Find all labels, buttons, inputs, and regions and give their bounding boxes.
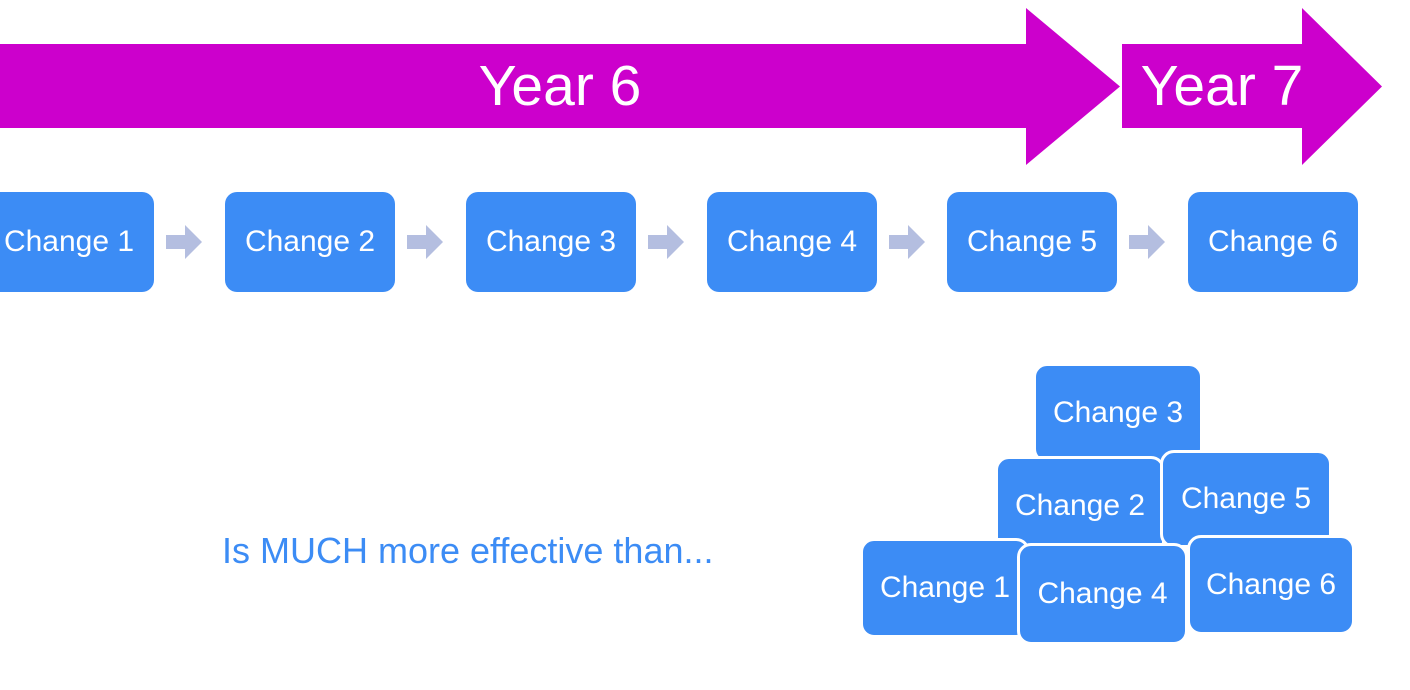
- year7-label: Year 7: [1122, 58, 1322, 115]
- cluster-box-change-1[interactable]: Change 1: [860, 538, 1030, 638]
- connector-arrow-icon-5: [1129, 225, 1165, 259]
- sequential-box-change-3[interactable]: Change 3: [466, 192, 636, 292]
- cluster-box-change-4[interactable]: Change 4: [1017, 543, 1188, 645]
- sequential-box-change-6[interactable]: Change 6: [1188, 192, 1358, 292]
- slide-canvas: Year 6 Year 7 Change 1 Change 2 Change 3…: [0, 0, 1410, 690]
- sequential-box-change-5[interactable]: Change 5: [947, 192, 1117, 292]
- cluster-box-change-6[interactable]: Change 6: [1187, 535, 1355, 635]
- sequential-box-change-4[interactable]: Change 4: [707, 192, 877, 292]
- comparison-caption: Is MUCH more effective than...: [222, 533, 714, 569]
- connector-arrow-icon-1: [166, 225, 202, 259]
- cluster-box-change-5[interactable]: Change 5: [1160, 450, 1332, 548]
- connector-arrow-icon-3: [648, 225, 684, 259]
- sequential-box-change-1[interactable]: Change 1: [0, 192, 154, 292]
- cluster-box-change-3[interactable]: Change 3: [1033, 363, 1203, 463]
- connector-arrow-icon-2: [407, 225, 443, 259]
- year6-label: Year 6: [0, 58, 1120, 115]
- sequential-box-change-2[interactable]: Change 2: [225, 192, 395, 292]
- connector-arrow-icon-4: [889, 225, 925, 259]
